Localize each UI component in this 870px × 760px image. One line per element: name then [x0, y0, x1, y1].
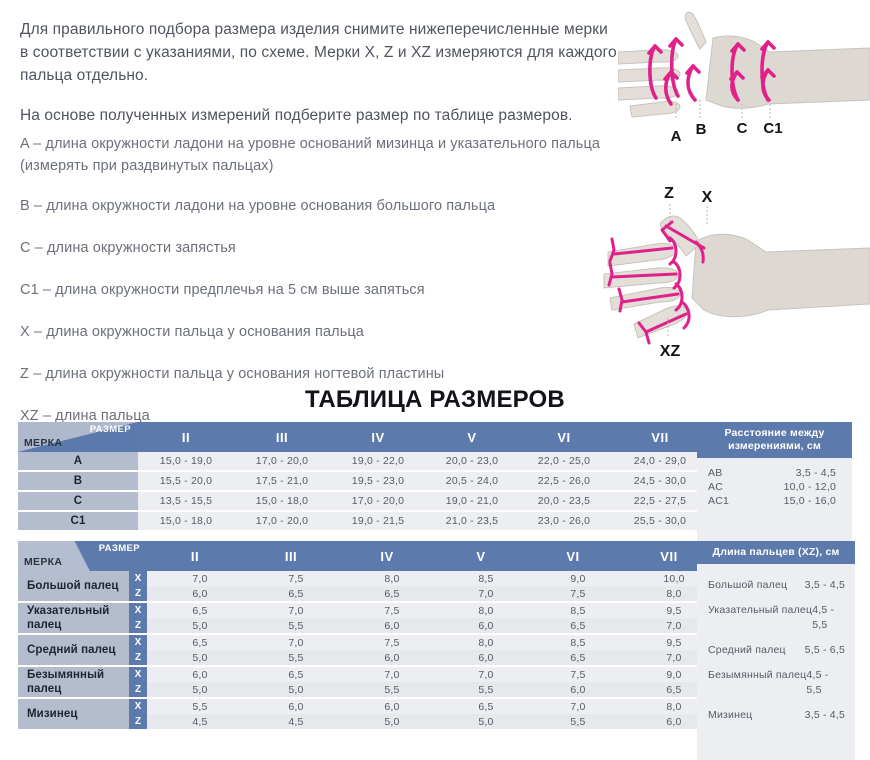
- table-2-cell: 5,0: [147, 650, 243, 666]
- table-2-cell: 5,0: [147, 618, 243, 634]
- illustration-label-a: A: [671, 128, 682, 145]
- info-panel-1-title: Расстояние между измерениями, см: [697, 422, 852, 458]
- table-2-size-header-iv: IV: [339, 541, 435, 571]
- table-1-cell: 13,5 - 15,5: [138, 491, 234, 511]
- table-1-size-header-ii: II: [138, 422, 234, 452]
- table-2-cell: 7,5: [527, 586, 619, 602]
- table-2-cell: 5,5: [527, 714, 619, 730]
- table-2-cell: 6,0: [147, 586, 243, 602]
- size-table-measurements: РАЗМЕР МЕРКА II III IV V VI VII A 15,0 -…: [18, 422, 710, 532]
- table-2-cell: 4,5: [243, 714, 339, 730]
- table-2-cell: 6,5: [435, 698, 527, 714]
- size-table-finger-measurements: РАЗМЕР МЕРКА II III IV V VI VII Большой …: [18, 541, 719, 731]
- hand-palm-measurements-diagram: A B C C1: [618, 8, 870, 158]
- table-2-row-label-middle: Средний палец: [18, 634, 129, 666]
- info-key: Большой палец: [708, 578, 787, 593]
- table-2-cell: 6,0: [147, 666, 243, 682]
- table-2-cell: 6,5: [147, 634, 243, 650]
- table-1-cell: 17,0 - 20,0: [330, 491, 426, 511]
- table-2-header-row: РАЗМЕР МЕРКА II III IV V VI VII: [18, 541, 719, 571]
- table-1-cell: 19,0 - 21,0: [426, 491, 518, 511]
- sub-row-tag-z: Z: [129, 714, 147, 730]
- table-1-size-header-vi: VI: [518, 422, 610, 452]
- table-2-cell: 6,5: [339, 586, 435, 602]
- info-value: 5,5 - 6,5: [805, 643, 845, 658]
- table-2-cell: 6,0: [339, 698, 435, 714]
- table-1-cell: 20,0 - 23,5: [518, 491, 610, 511]
- table-1-cell: 17,0 - 20,0: [234, 452, 330, 471]
- table-2-size-header-vi: VI: [527, 541, 619, 571]
- table-2-cell: 8,0: [435, 634, 527, 650]
- info-value: 4,5 - 5,5: [806, 668, 845, 698]
- table-2-cell: 7,5: [243, 571, 339, 586]
- definition-z: Z – длина окружности пальца у основания …: [20, 363, 620, 385]
- distance-between-measurements-panel: Расстояние между измерениями, см AB 3,5 …: [697, 422, 852, 534]
- table-2-cell: 7,5: [339, 634, 435, 650]
- table-1-cell: 25,5 - 30,0: [610, 511, 710, 531]
- table-row: Большой палец X 7,0 7,5 8,0 8,5 9,0 10,0: [18, 571, 719, 586]
- hand-silhouette-palm: [618, 12, 870, 117]
- definition-c: C – длина окружности запястья: [20, 237, 620, 259]
- table-2-cell: 6,0: [527, 682, 619, 698]
- finger-length-panel: Длина пальцев (XZ), см Большой палец 3,5…: [697, 541, 855, 737]
- table-1-cell: 15,5 - 20,0: [138, 471, 234, 491]
- table-2-cell: 5,5: [339, 682, 435, 698]
- table-2-cell: 5,5: [147, 698, 243, 714]
- table-2-row-label-little: Мизинец: [18, 698, 129, 730]
- table-1-cell: 24,5 - 30,0: [610, 471, 710, 491]
- table-2-cell: 6,0: [243, 698, 339, 714]
- info-key: Указательный палец: [708, 603, 812, 633]
- sub-row-tag-x: X: [129, 602, 147, 618]
- table-2-cell: 8,5: [527, 602, 619, 618]
- table-1-header-row: РАЗМЕР МЕРКА II III IV V VI VII: [18, 422, 710, 452]
- table-2-cell: 5,0: [147, 682, 243, 698]
- size-table-2-grid: РАЗМЕР МЕРКА II III IV V VI VII Большой …: [18, 541, 719, 731]
- table-1-cell: 23,0 - 26,0: [518, 511, 610, 531]
- info-row: Мизинец 3,5 - 4,5: [708, 708, 845, 723]
- intro-text-block: Для правильного подбора размера изделия …: [20, 18, 620, 144]
- table-2-cell: 5,5: [435, 682, 527, 698]
- table-2-row-label-thumb: Большой палец: [18, 571, 129, 602]
- sub-row-tag-z: Z: [129, 682, 147, 698]
- table-2-row-label-ring: Безымянный палец: [18, 666, 129, 698]
- table-row: Указательный палец X 6,5 7,0 7,5 8,0 8,5…: [18, 602, 719, 618]
- info-row: AC 10,0 - 12,0: [708, 480, 840, 494]
- table-1-cell: 15,0 - 19,0: [138, 452, 234, 471]
- sub-row-tag-x: X: [129, 571, 147, 586]
- table-2-cell: 5,0: [435, 714, 527, 730]
- table-1-cell: 15,0 - 18,0: [138, 511, 234, 531]
- table-row: Безымянный палец X 6,0 6,5 7,0 7,0 7,5 9…: [18, 666, 719, 682]
- table-2-cell: 7,0: [243, 602, 339, 618]
- table-2-cell: 7,0: [527, 698, 619, 714]
- table-2-cell: 6,0: [339, 650, 435, 666]
- table-1-cell: 22,5 - 27,5: [610, 491, 710, 511]
- illustration-label-b: B: [696, 121, 707, 138]
- table-1-cell: 20,0 - 23,0: [426, 452, 518, 471]
- info-row: AB 3,5 - 4,5: [708, 466, 840, 480]
- table-1-cell: 17,0 - 20,0: [234, 511, 330, 531]
- table-1-row-label-c1: C1: [18, 511, 138, 531]
- table-1-cell: 22,0 - 25,0: [518, 452, 610, 471]
- sub-row-tag-z: Z: [129, 586, 147, 602]
- table-2-cell: 6,5: [527, 618, 619, 634]
- info-row: Безымянный палец 4,5 - 5,5: [708, 668, 845, 698]
- table-2-cell: 5,0: [339, 714, 435, 730]
- table-2-cell: 8,0: [435, 602, 527, 618]
- table-1-cell: 24,0 - 29,0: [610, 452, 710, 471]
- table-2-cell: 7,0: [435, 666, 527, 682]
- table-1-size-header-iv: IV: [330, 422, 426, 452]
- table-2-cell: 5,0: [243, 682, 339, 698]
- sub-row-tag-z: Z: [129, 618, 147, 634]
- table-1-corner-header: РАЗМЕР МЕРКА: [18, 422, 138, 452]
- table-2-cell: 7,0: [147, 571, 243, 586]
- table-row: B 15,5 - 20,0 17,5 - 21,0 19,5 - 23,0 20…: [18, 471, 710, 491]
- info-key: AB: [708, 466, 760, 480]
- illustration-label-c: C: [737, 120, 748, 137]
- table-2-cell: 4,5: [147, 714, 243, 730]
- info-row: Указательный палец 4,5 - 5,5: [708, 603, 845, 633]
- table-2-cell: 8,0: [339, 571, 435, 586]
- table-2-size-header-ii: II: [147, 541, 243, 571]
- info-key: AC1: [708, 494, 760, 508]
- table-1-cell: 15,0 - 18,0: [234, 491, 330, 511]
- table-2-cell: 6,5: [243, 586, 339, 602]
- table-2-cell: 6,5: [527, 650, 619, 666]
- sub-row-tag-z: Z: [129, 650, 147, 666]
- definition-c1: C1 – длина окружности предплечья на 5 см…: [20, 279, 620, 301]
- table-2-cell: 7,0: [435, 586, 527, 602]
- table-row: Мизинец X 5,5 6,0 6,0 6,5 7,0 8,0: [18, 698, 719, 714]
- table-2-cell: 5,5: [243, 650, 339, 666]
- corner-label-size: РАЗМЕР: [90, 424, 131, 435]
- sub-row-tag-x: X: [129, 666, 147, 682]
- table-2-cell: 7,0: [243, 634, 339, 650]
- info-row: Большой палец 3,5 - 4,5: [708, 578, 845, 593]
- info-panel-2-body: Большой палец 3,5 - 4,5 Указательный пал…: [697, 564, 855, 760]
- table-2-cell: 6,5: [147, 602, 243, 618]
- table-2-cell: 7,5: [339, 602, 435, 618]
- table-1-row-label-a: A: [18, 452, 138, 471]
- table-2-cell: 6,0: [435, 650, 527, 666]
- table-1-cell: 19,0 - 22,0: [330, 452, 426, 471]
- table-row: C1 15,0 - 18,0 17,0 - 20,0 19,0 - 21,5 2…: [18, 511, 710, 531]
- table-1-cell: 17,5 - 21,0: [234, 471, 330, 491]
- info-key: Безымянный палец: [708, 668, 806, 698]
- corner-label-measure: МЕРКА: [24, 437, 62, 449]
- info-key: Мизинец: [708, 708, 752, 723]
- table-2-size-header-iii: III: [243, 541, 339, 571]
- definition-b: B – длина окружности ладони на уровне ос…: [20, 195, 620, 217]
- table-1-cell: 19,5 - 23,0: [330, 471, 426, 491]
- definition-a: A – длина окружности ладони на уровне ос…: [20, 133, 620, 177]
- info-key: AC: [708, 480, 760, 494]
- table-2-row-label-index: Указательный палец: [18, 602, 129, 634]
- info-value: 15,0 - 16,0: [784, 494, 836, 508]
- table-2-cell: 8,5: [435, 571, 527, 586]
- corner-label-measure: МЕРКА: [24, 556, 62, 568]
- table-1-cell: 21,0 - 23,5: [426, 511, 518, 531]
- table-1-size-header-iii: III: [234, 422, 330, 452]
- table-row: Средний палец X 6,5 7,0 7,5 8,0 8,5 9,5: [18, 634, 719, 650]
- table-2-cell: 7,0: [339, 666, 435, 682]
- table-2-cell: 6,0: [435, 618, 527, 634]
- definition-x: X – длина окружности пальца у основания …: [20, 321, 620, 343]
- table-2-cell: 6,0: [339, 618, 435, 634]
- intro-paragraph-2: На основе полученных измерений подберите…: [20, 104, 620, 127]
- info-value: 3,5 - 4,5: [796, 466, 836, 480]
- illustration-label-z: Z: [664, 185, 674, 202]
- info-panel-2-title: Длина пальцев (XZ), см: [697, 541, 855, 564]
- info-key: Средний палец: [708, 643, 786, 658]
- table-2-cell: 6,5: [243, 666, 339, 682]
- table-2-size-header-v: V: [435, 541, 527, 571]
- table-1-cell: 22,5 - 26,0: [518, 471, 610, 491]
- sub-row-tag-x: X: [129, 634, 147, 650]
- table-row: A 15,0 - 19,0 17,0 - 20,0 19,0 - 22,0 20…: [18, 452, 710, 471]
- table-2-cell: 9,0: [527, 571, 619, 586]
- table-2-cell: 7,5: [527, 666, 619, 682]
- table-2-cell: 5,5: [243, 618, 339, 634]
- info-row: AC1 15,0 - 16,0: [708, 494, 840, 508]
- info-value: 3,5 - 4,5: [805, 578, 845, 593]
- info-row: Средний палец 5,5 - 6,5: [708, 643, 845, 658]
- illustration-label-xz: XZ: [660, 343, 681, 360]
- size-table-1-grid: РАЗМЕР МЕРКА II III IV V VI VII A 15,0 -…: [18, 422, 710, 532]
- table-2-corner-header: РАЗМЕР МЕРКА: [18, 541, 147, 571]
- table-1-size-header-vii: VII: [610, 422, 710, 452]
- illustration-label-c1: C1: [763, 120, 782, 137]
- page-title: ТАБЛИЦА РАЗМЕРОВ: [0, 386, 870, 414]
- table-1-row-label-b: B: [18, 471, 138, 491]
- sub-row-tag-x: X: [129, 698, 147, 714]
- info-value: 3,5 - 4,5: [805, 708, 845, 723]
- table-1-cell: 20,5 - 24,0: [426, 471, 518, 491]
- table-2-cell: 8,5: [527, 634, 619, 650]
- table-row: C 13,5 - 15,5 15,0 - 18,0 17,0 - 20,0 19…: [18, 491, 710, 511]
- corner-label-size: РАЗМЕР: [99, 543, 140, 554]
- illustration-label-x: X: [702, 189, 713, 206]
- table-1-cell: 19,0 - 21,5: [330, 511, 426, 531]
- intro-paragraph-1: Для правильного подбора размера изделия …: [20, 18, 620, 87]
- info-value: 4,5 - 5,5: [812, 603, 845, 633]
- table-1-row-label-c: C: [18, 491, 138, 511]
- table-1-size-header-v: V: [426, 422, 518, 452]
- hand-fingers-measurements-diagram: Z X XZ: [600, 182, 870, 362]
- info-value: 10,0 - 12,0: [784, 480, 836, 494]
